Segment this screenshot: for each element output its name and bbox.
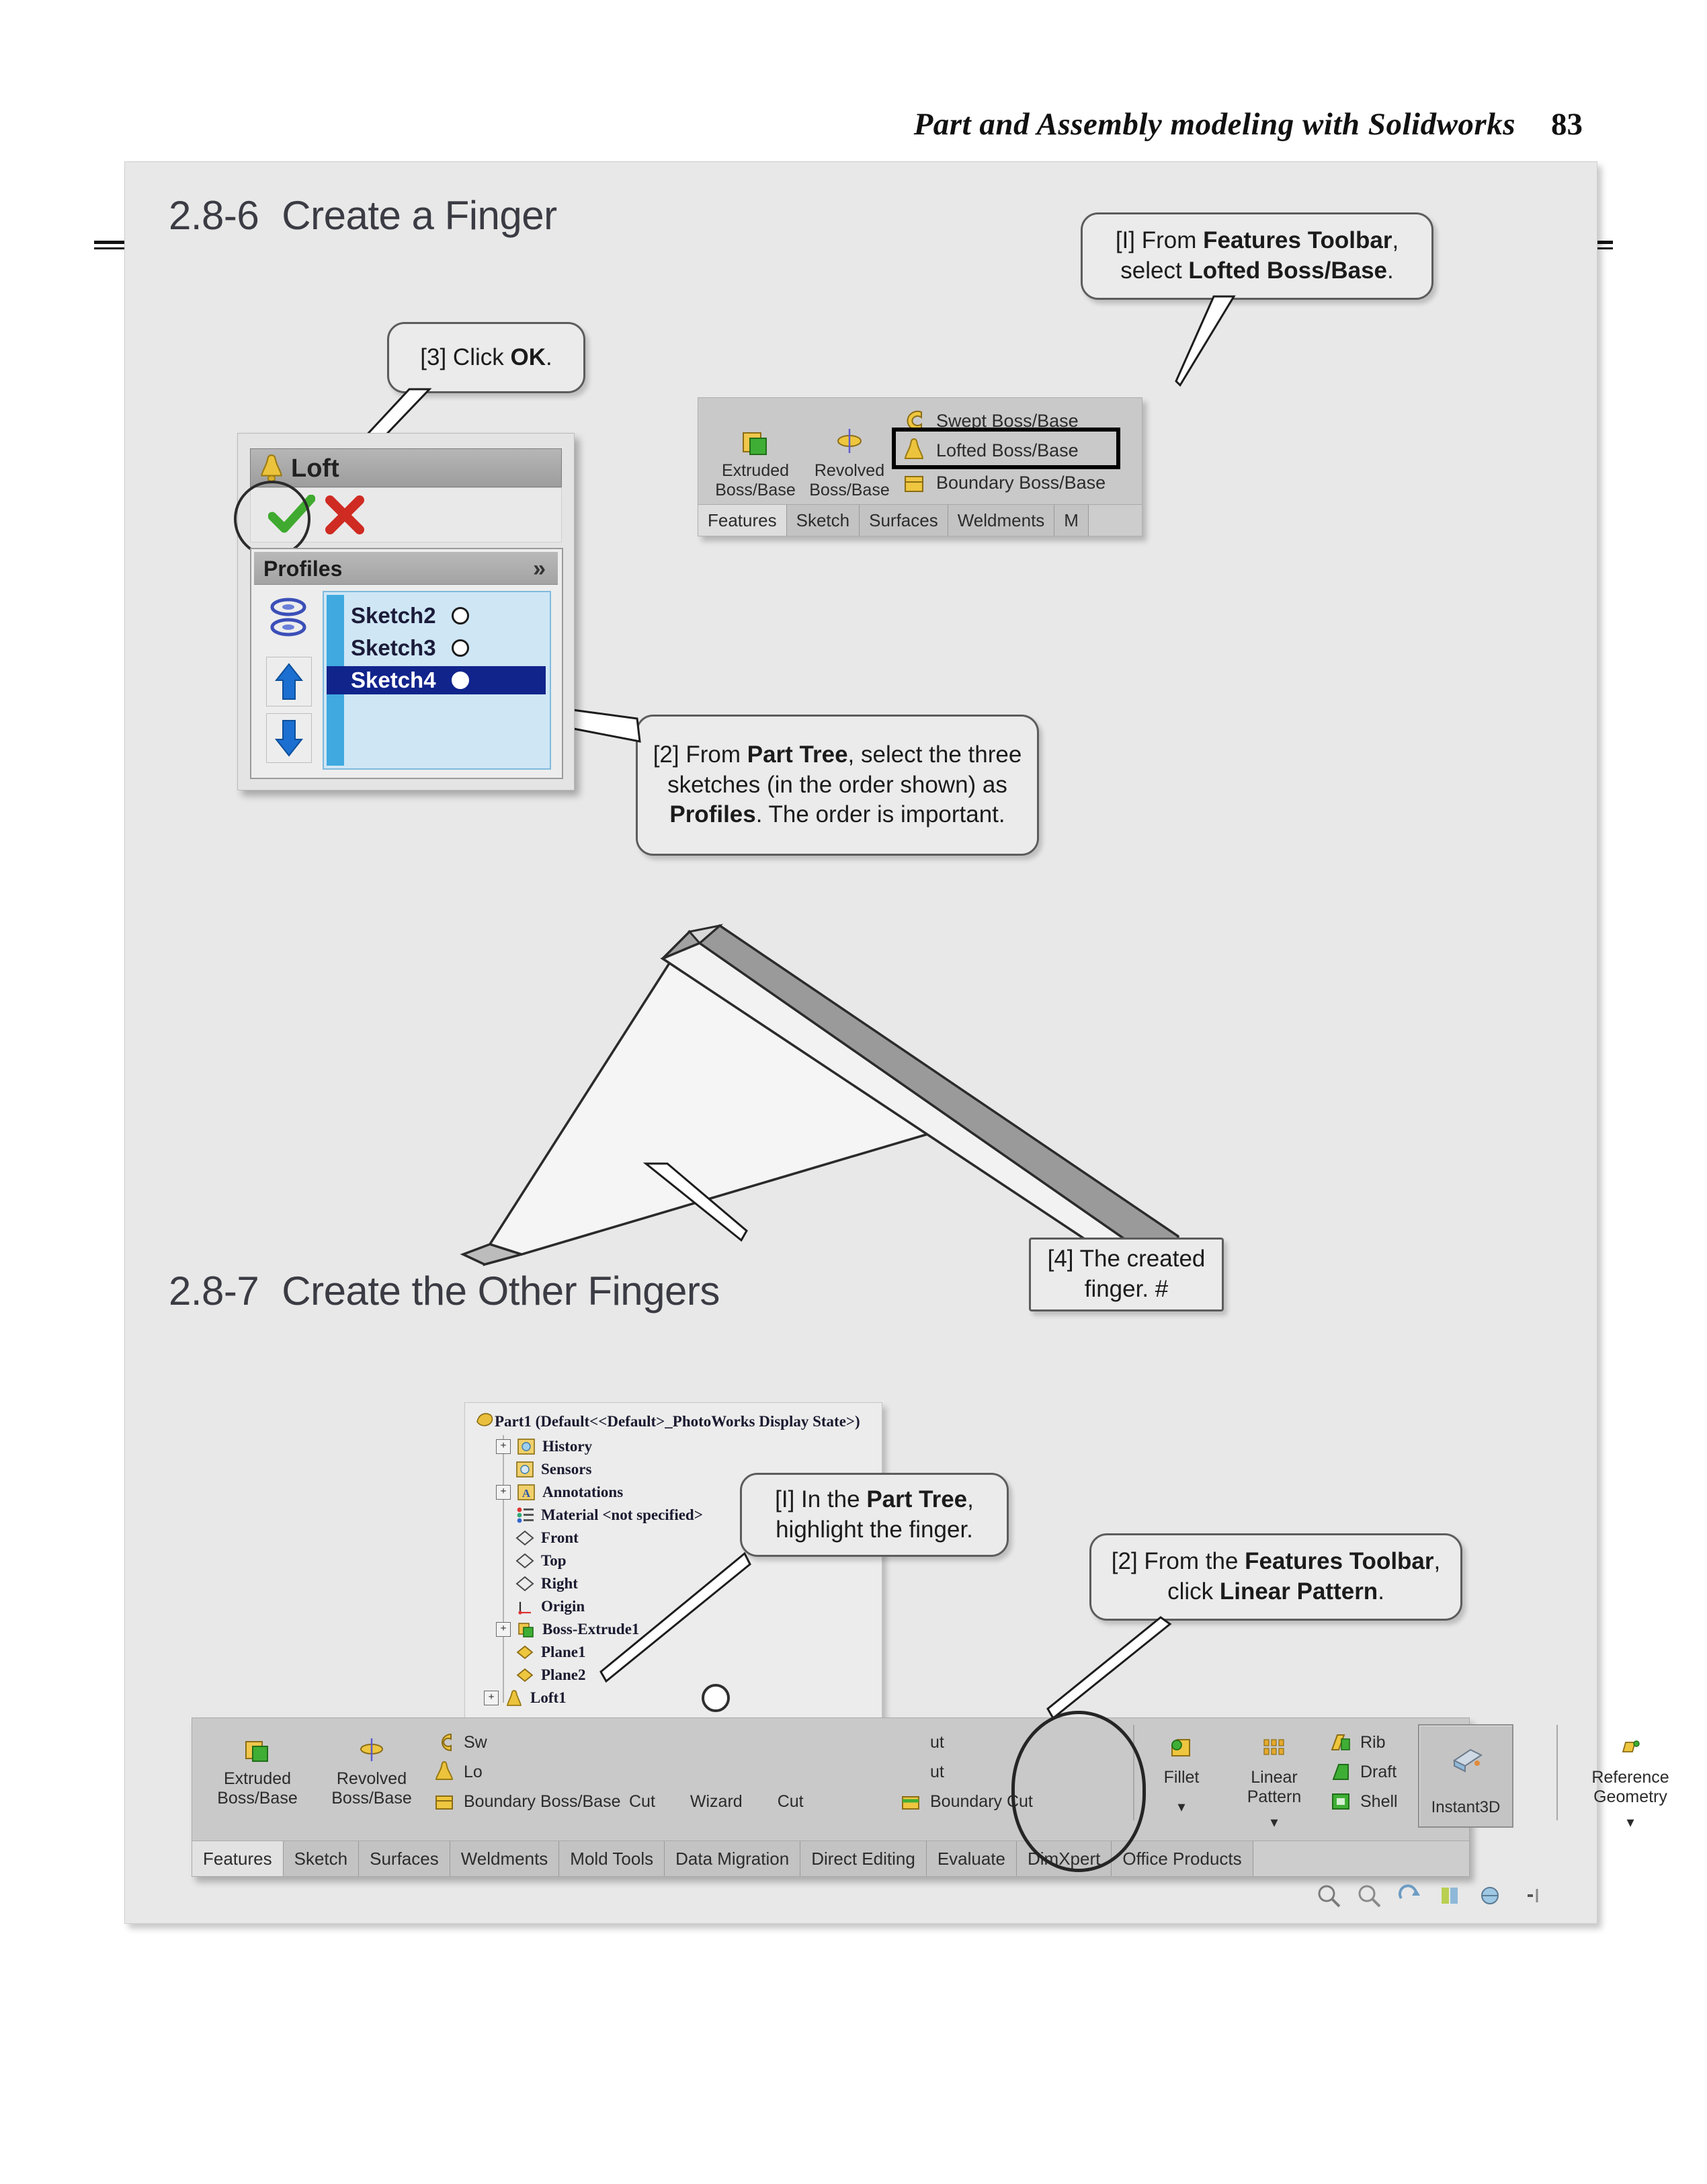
history-icon [516,1437,536,1457]
expand-icon[interactable]: + [496,1622,511,1637]
plane-yellow-icon [515,1642,535,1662]
tab-surfaces[interactable]: Surfaces [860,505,948,536]
revolved-boss-icon [357,1736,386,1765]
callout-step3-click-ok: [3] Click OK. [387,322,585,393]
leader-line-step1 [1160,296,1348,391]
page-number: 83 [1551,106,1583,143]
tab-sketch[interactable]: Sketch [284,1841,360,1876]
callout-bold-1: Part Tree [747,741,848,768]
tab-surfaces[interactable]: Surfaces [359,1841,450,1876]
section-view-icon[interactable] [1435,1881,1464,1910]
move-down-arrow-icon[interactable] [266,713,312,763]
tree-item-label: History [542,1438,592,1455]
callout-text-end: . [1378,1578,1384,1605]
expand-icon[interactable]: + [496,1485,511,1500]
button-label-line2: Boss/Base [217,1789,298,1808]
callout-text-end: . The order is important. [756,801,1005,827]
callout-step2-part-tree: [2] From Part Tree, select the three ske… [636,715,1039,856]
leader-line-s7-step2 [1029,1617,1177,1725]
tree-item-label: Material <not specified> [541,1506,703,1524]
chevron-down-icon[interactable]: ▾ [1227,1814,1321,1831]
tree-item-label: Top [541,1552,567,1570]
tab-office-products[interactable]: Office Products [1112,1841,1253,1876]
profile-marker-icon [452,672,469,689]
annotations-icon: A [516,1482,536,1502]
instant3d-button[interactable]: Instant3D [1418,1724,1513,1828]
zoom-to-area-icon[interactable] [1354,1881,1384,1910]
section-title: Create a Finger [282,193,556,238]
extruded-boss-icon [243,1736,272,1765]
tree-item-plane2[interactable]: Plane2 [496,1664,585,1687]
display-style-icon[interactable] [1515,1881,1545,1910]
toolbar-item-label: ut [930,1763,944,1782]
profile-marker-icon [452,639,469,657]
callout-text: [2] From [653,741,747,768]
svg-text:A: A [522,1487,531,1500]
tab-sketch[interactable]: Sketch [787,505,860,536]
features-toolbar: Extruded Boss/Base Revolved Boss/Base Sw [192,1717,1470,1877]
tree-root-item[interactable]: Part1 (Default<<Default>_PhotoWorks Disp… [474,1410,860,1434]
button-label-line2: Boss/Base [715,481,796,499]
tree-item-loft1[interactable]: + Loft1 [484,1687,567,1709]
tree-item-label: Right [541,1575,578,1592]
chevron-down-icon[interactable]: ▾ [1141,1798,1222,1816]
extruded-boss-icon [739,426,772,458]
move-up-arrow-icon[interactable] [266,657,312,706]
plane-icon [515,1528,535,1548]
plane-icon [515,1574,535,1594]
toolbar-item-lofted-boss[interactable]: Lo [431,1757,626,1787]
profiles-label: Profiles [263,557,342,581]
loft-bell-icon [504,1688,524,1708]
profile-name: Sketch2 [351,603,452,629]
callout-text-end: . [1387,257,1394,284]
plane-yellow-icon [515,1665,535,1685]
lofted-cut-icon [898,1759,923,1785]
tree-item-sensors[interactable]: Sensors [496,1458,591,1481]
cut-label-3: Cut [778,1792,804,1812]
linear-pattern-highlight-circle [1011,1711,1146,1872]
toolbar-item-label: Shell [1360,1792,1398,1812]
callout-s7-step2-linear-pattern: [2] From the Features Toolbar, click Lin… [1089,1533,1462,1621]
tab-mold-tools[interactable]: Mold Tools [559,1841,665,1876]
loft1-highlight-marker [702,1684,730,1712]
callout-bold-1: Features Toolbar [1245,1548,1433,1574]
toolbar-button-reference-geometry[interactable]: Reference Geometry ▾ [1563,1736,1698,1831]
button-label-line1: Linear [1251,1768,1298,1787]
toolbar-separator [1556,1725,1558,1820]
tree-item-top-plane[interactable]: Top [496,1549,567,1572]
rib-icon [1328,1730,1354,1755]
button-label-line1: Extruded [224,1769,291,1788]
tree-item-label: Origin [541,1598,585,1615]
callout-text: [3] Click [420,344,510,370]
toolbar-button-extruded-boss[interactable]: Extruded Boss/Base [200,1736,315,1808]
toolbar-ribbon: Extruded Boss/Base Revolved Boss/Base Sw [192,1718,1469,1829]
menu-label: Boundary Boss/Base [936,473,1106,493]
boundary-cut-icon [898,1789,923,1814]
toolbar-button-curves[interactable]: Curves ▾ [1704,1736,1707,1824]
revolved-boss-icon [833,426,866,458]
toolbar-stack-rib-draft-shell: Rib Draft Shell [1328,1728,1422,1816]
section-title: Create the Other Fingers [282,1268,720,1313]
view-toolbar [1314,1875,1536,1916]
instant3d-label: Instant3D [1419,1798,1512,1817]
section-heading-2-8-7: 2.8-7Create the Other Fingers [169,1268,720,1314]
toolbar-button-extruded-boss[interactable]: Extruded Boss/Base [705,426,806,499]
list-item-selected[interactable]: Sketch4 [327,666,546,694]
draft-icon [1328,1759,1354,1785]
tree-item-front-plane[interactable]: Front [496,1527,579,1549]
callout-bold-2: Linear Pattern [1220,1578,1378,1605]
button-label-line1: Fillet [1164,1768,1200,1787]
reference-geometry-icon [1616,1736,1644,1764]
toolbar-item-boundary-boss[interactable]: Boundary Boss/Base [431,1787,626,1816]
material-icon [515,1505,535,1525]
tree-item-material[interactable]: Material <not specified> [496,1504,703,1527]
swept-cut-icon [898,1730,923,1755]
figure-panel: 2.8-6Create a Finger [I] From Features T… [124,161,1597,1924]
instant3d-icon [1448,1740,1485,1778]
toolbar-item-label: Rib [1360,1733,1386,1752]
button-label-line2: Boss/Base [331,1789,412,1808]
tree-item-origin[interactable]: Origin [496,1595,585,1618]
toolbar-item-swept-boss[interactable]: Sw [431,1728,626,1757]
running-head: Part and Assembly modeling with Solidwor… [0,94,1707,168]
tree-item-label: Annotations [542,1484,623,1501]
tab-evaluate[interactable]: Evaluate [927,1841,1017,1876]
tree-item-label: Plane1 [541,1644,585,1661]
boundary-boss-icon [900,469,928,497]
button-label-line1: Extruded [722,461,789,480]
created-finger-3d-model [431,881,1614,1285]
zoom-to-fit-icon[interactable] [1314,1881,1343,1910]
profiles-group: Profiles » [250,548,563,779]
toolbar-button-revolved-boss[interactable]: Revolved Boss/Base [315,1736,429,1808]
loft-property-manager: Loft Profiles » [237,433,575,791]
toolbar-button-fillet[interactable]: Fillet ▾ [1141,1736,1222,1816]
callout-bold-1: Features Toolbar [1203,227,1392,253]
tree-item-annotations[interactable]: + A Annotations [496,1481,623,1504]
red-x-icon[interactable] [325,495,365,535]
tab-weldments[interactable]: Weldments [450,1841,560,1876]
tab-weldments[interactable]: Weldments [948,505,1055,536]
callout-text: [4] The created finger. # [1046,1244,1207,1305]
profiles-list[interactable]: Sketch2 Sketch3 Sketch4 [323,591,551,770]
callout-text-end: . [546,344,552,370]
callout-text: [I] From [1116,227,1203,253]
boundary-boss-icon [431,1789,457,1814]
toolbar-item-label: ut [930,1733,944,1752]
tab-features[interactable]: Features [192,1841,284,1876]
view-orientation-icon[interactable] [1475,1881,1505,1910]
toolbar-item-draft[interactable]: Draft [1328,1757,1422,1787]
leader-line-s7-step1 [589,1553,757,1688]
callout-text: [2] From the [1112,1548,1245,1574]
tree-item-right-plane[interactable]: Right [496,1572,578,1595]
plane-icon [515,1551,535,1571]
ok-button-highlight-ring [234,481,310,557]
section-heading-2-8-6: 2.8-6Create a Finger [169,192,557,239]
features-toolbar-fragment: Extruded Boss/Base Revolved Boss/Base Sw… [698,397,1142,536]
chevron-down-icon[interactable]: ▾ [1563,1814,1698,1831]
callout-bold-1: Part Tree [866,1486,967,1512]
fragment-tab-bar: Features Sketch Surfaces Weldments M [698,504,1142,536]
menu-item-boundary-boss[interactable]: Boundary Boss/Base [900,468,1106,497]
expand-icon[interactable]: + [484,1691,499,1705]
tree-item-label: Front [541,1529,579,1547]
tab-direct-editing[interactable]: Direct Editing [800,1841,927,1876]
page-title: Part and Assembly modeling with Solidwor… [914,106,1515,143]
profile-name: Sketch3 [351,635,452,661]
chevron-up-icon[interactable]: » [533,556,546,582]
swept-boss-icon [431,1730,457,1755]
loft-title: Loft [291,454,339,483]
tree-item-plane1[interactable]: Plane1 [496,1641,585,1664]
rotate-view-icon[interactable] [1394,1881,1424,1910]
cut-label-2: Wizard [690,1792,743,1812]
fillet-icon [1167,1736,1196,1764]
sensors-icon [515,1459,535,1480]
callout-step1-features-toolbar: [I] From Features Toolbar, select Lofted… [1081,212,1433,300]
toolbar-button-revolved-boss[interactable]: Revolved Boss/Base [799,426,900,499]
button-label-line2: Boss/Base [809,481,890,499]
loft-title-bar: Loft [250,448,562,487]
callout-bold-ok: OK [510,344,546,370]
tree-item-label: Sensors [541,1461,591,1478]
toolbar-item-label: Sw [464,1733,487,1752]
tab-features[interactable]: Features [698,505,787,536]
button-label-line2: Pattern [1247,1787,1302,1806]
loft-bell-icon [257,453,286,483]
toolbar-item-rib[interactable]: Rib [1328,1728,1422,1757]
expand-icon[interactable]: + [496,1439,511,1454]
tree-item-label: Loft1 [530,1689,567,1707]
profile-selector-icon [266,594,310,641]
callout-bold-2: Profiles [669,801,755,827]
profile-name: Sketch4 [351,668,452,693]
toolbar-item-label: Lo [464,1763,483,1782]
tree-item-label: Plane2 [541,1666,585,1684]
section-number: 2.8-7 [169,1268,259,1314]
toolbar-item-label: Boundary Boss/Base [464,1792,620,1812]
tree-item-history[interactable]: + History [496,1435,592,1458]
callout-s7-step1-highlight-finger: [I] In the Part Tree, highlight the fing… [740,1473,1009,1557]
chevron-down-icon[interactable]: ▾ [1704,1806,1707,1824]
tab-mold-tools-truncated[interactable]: M [1054,505,1089,536]
callout-step4-created-finger: [4] The created finger. # [1029,1238,1224,1311]
cut-label-1: Cut [629,1792,655,1812]
list-item[interactable]: Sketch3 [351,634,546,662]
profiles-header: Profiles » [254,552,558,585]
toolbar-item-shell[interactable]: Shell [1328,1787,1422,1816]
list-item[interactable]: Sketch2 [351,602,546,630]
linear-pattern-icon [1259,1736,1289,1764]
toolbar-tab-bar: Features Sketch Surfaces Weldments Mold … [192,1841,1469,1876]
lofted-boss-icon [431,1759,457,1785]
toolbar-cut-labels: Cut Wizard Cut [629,1792,911,1812]
shell-icon [1328,1789,1354,1814]
button-label-line1: Revolved [815,461,884,480]
button-label-line2: Geometry [1593,1787,1667,1806]
callout-text: [I] In the [775,1486,866,1512]
callout-bold-2: Lofted Boss/Base [1188,257,1387,284]
origin-icon [515,1596,535,1617]
button-label-line1: Reference [1591,1768,1669,1787]
toolbar-item-label: Draft [1360,1763,1397,1782]
section-number: 2.8-6 [169,192,259,239]
button-label-line1: Revolved [337,1769,407,1788]
tree-root-label: Part1 (Default<<Default>_PhotoWorks Disp… [495,1413,860,1430]
profile-marker-icon [452,607,469,624]
lofted-boss-highlight-box [892,428,1120,469]
part-icon [474,1410,495,1434]
tab-data-migration[interactable]: Data Migration [665,1841,800,1876]
extrude-feature-icon [516,1619,536,1640]
toolbar-button-linear-pattern[interactable]: Linear Pattern ▾ [1227,1736,1321,1831]
toolbar-stack-boss-base: Sw Lo Boundary Boss/Base [431,1728,626,1816]
